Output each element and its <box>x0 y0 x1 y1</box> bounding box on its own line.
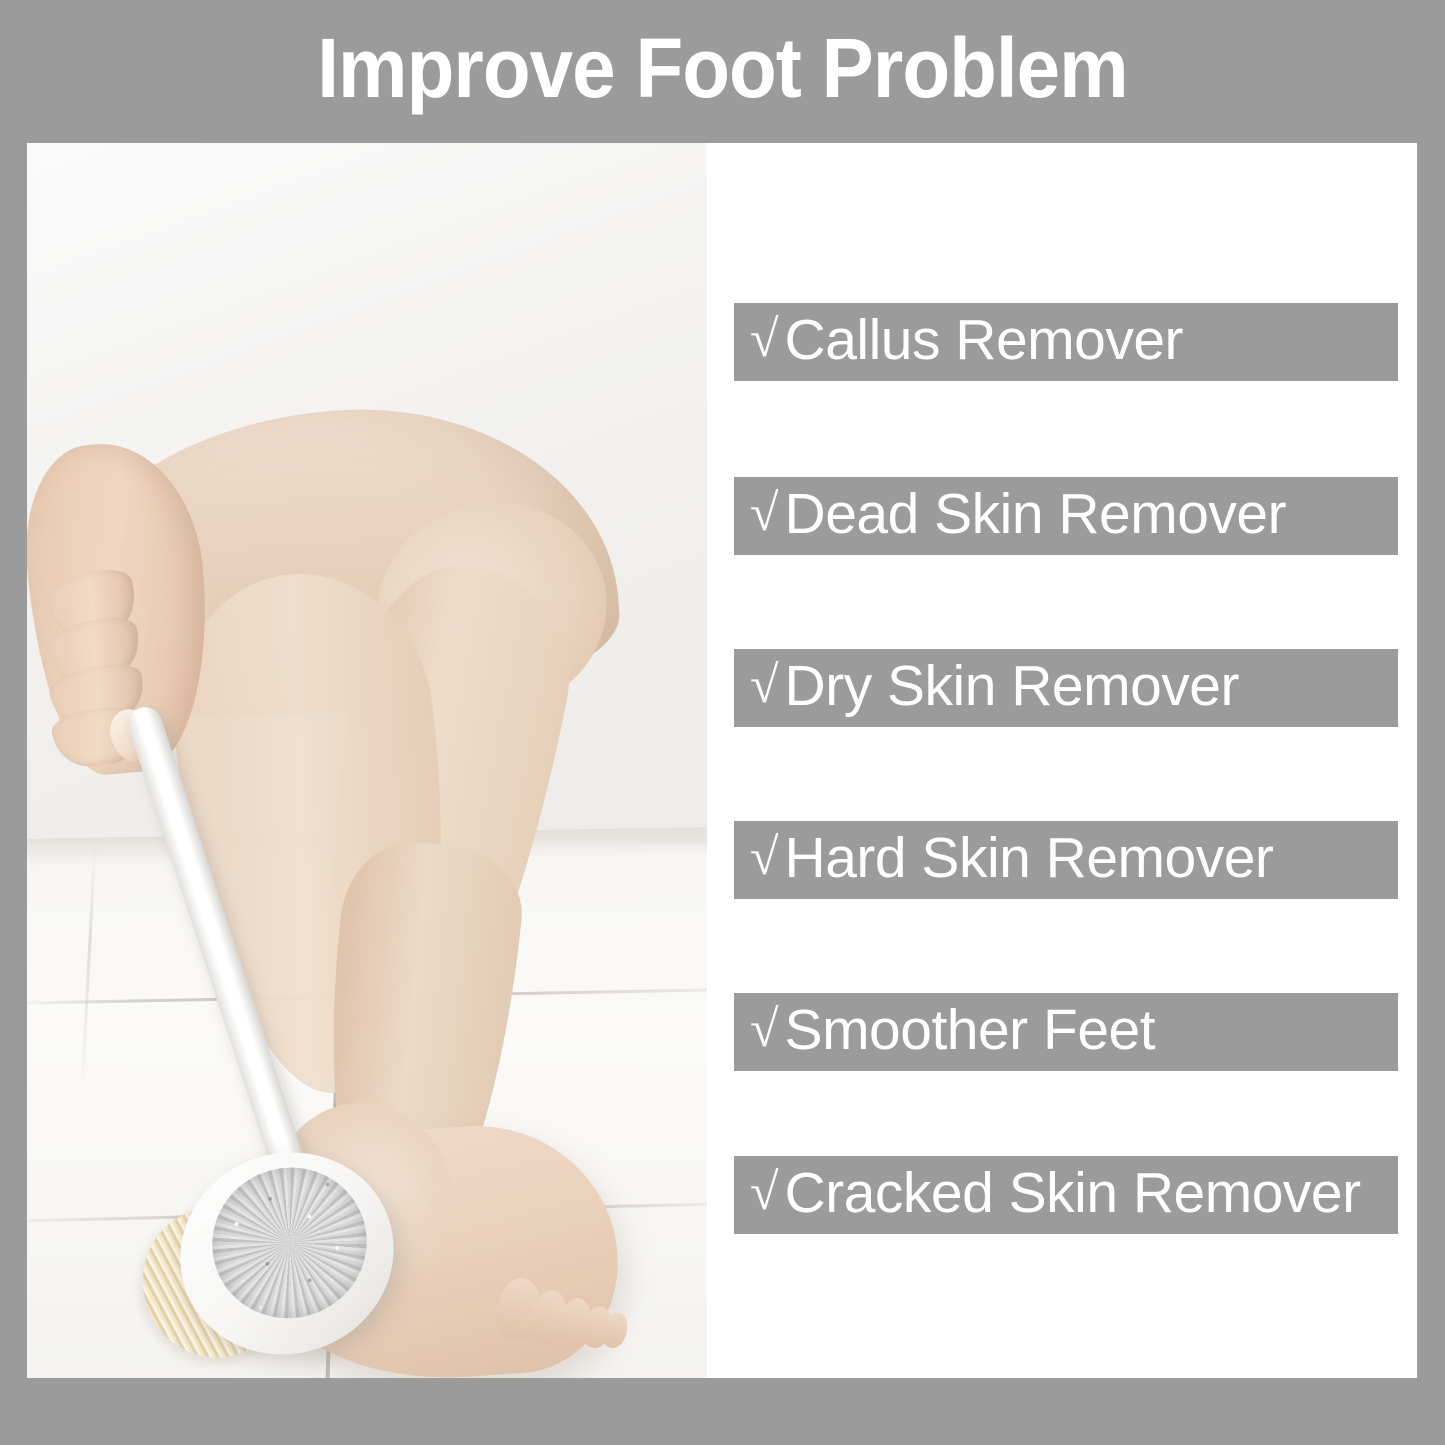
feature-item-dead-skin-remover: √ Dead Skin Remover <box>734 477 1398 555</box>
feature-item-cracked-skin-remover: √ Cracked Skin Remover <box>734 1156 1398 1234</box>
feature-item-smoother-feet: √ Smoother Feet <box>734 993 1398 1071</box>
page-title: Improve Foot Problem <box>51 18 1395 118</box>
photo-toes <box>497 1278 637 1358</box>
check-icon: √ <box>750 488 779 540</box>
check-icon: √ <box>750 1167 779 1219</box>
check-icon: √ <box>750 314 779 366</box>
feature-label: Callus Remover <box>785 312 1183 369</box>
product-photo <box>27 143 707 1378</box>
feature-label: Smoother Feet <box>785 1002 1156 1059</box>
check-icon: √ <box>750 660 779 712</box>
product-infographic: Improve Foot Problem <box>0 0 1445 1445</box>
check-icon: √ <box>750 832 779 884</box>
feature-list: √ Callus Remover √ Dead Skin Remover √ D… <box>707 143 1417 1378</box>
feature-item-hard-skin-remover: √ Hard Skin Remover <box>734 821 1398 899</box>
feature-label: Dead Skin Remover <box>785 486 1287 543</box>
feature-item-dry-skin-remover: √ Dry Skin Remover <box>734 649 1398 727</box>
feature-label: Hard Skin Remover <box>785 830 1274 887</box>
check-icon: √ <box>750 1004 779 1056</box>
content-frame: √ Callus Remover √ Dead Skin Remover √ D… <box>27 143 1417 1378</box>
feature-item-callus-remover: √ Callus Remover <box>734 303 1398 381</box>
feature-label: Cracked Skin Remover <box>785 1165 1361 1222</box>
feature-label: Dry Skin Remover <box>785 658 1239 715</box>
